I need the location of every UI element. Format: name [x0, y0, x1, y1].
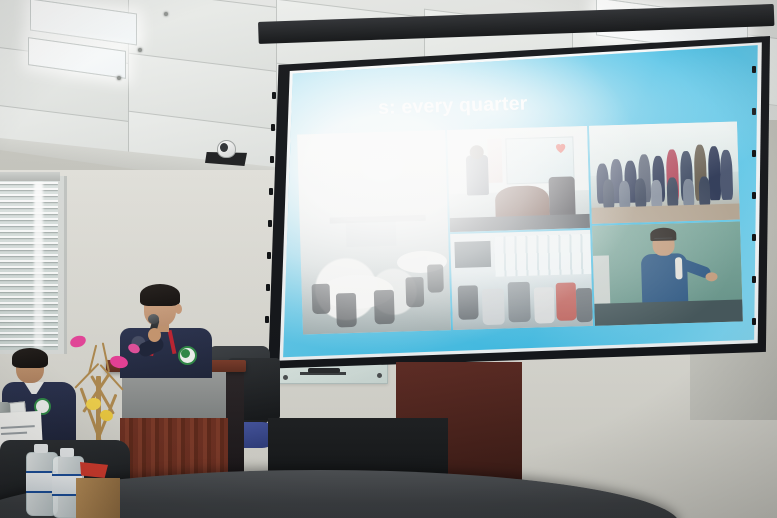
attendee-hair: [12, 348, 48, 368]
speaker-hair: [140, 284, 180, 306]
heart-logo-icon: [553, 141, 567, 155]
sprinkler-head: [164, 12, 168, 16]
slide-photo-collage: [297, 122, 743, 335]
slide-photo-group-volunteers: [589, 122, 740, 224]
presentation-room-photo: s: every quarter: [0, 0, 777, 518]
conference-camera: [205, 140, 247, 166]
flower-pink: [127, 342, 142, 355]
window-blinds[interactable]: [0, 180, 58, 350]
sprinkler-head: [138, 48, 142, 52]
sprinkler-head: [117, 76, 121, 80]
flower-pink: [109, 354, 129, 369]
blind-headrail: [0, 172, 60, 181]
whiteboard-marker: [308, 368, 340, 373]
slide-photo-hall-audience: [450, 230, 593, 330]
window-daylight-glow: [34, 182, 43, 348]
shirt-logo-inner-icon: [181, 349, 190, 358]
slide-photo-round-tables: [297, 130, 451, 334]
speaker-ear: [175, 304, 182, 314]
slide-photo-speaker-polo: [592, 221, 743, 325]
wooden-vase-block: [76, 478, 120, 518]
microphone-head-icon: [148, 314, 159, 324]
projected-slide: s: every quarter: [258, 36, 770, 372]
slide-photo-classroom-presenter: [447, 126, 590, 232]
camera-lens-icon: [220, 143, 228, 152]
